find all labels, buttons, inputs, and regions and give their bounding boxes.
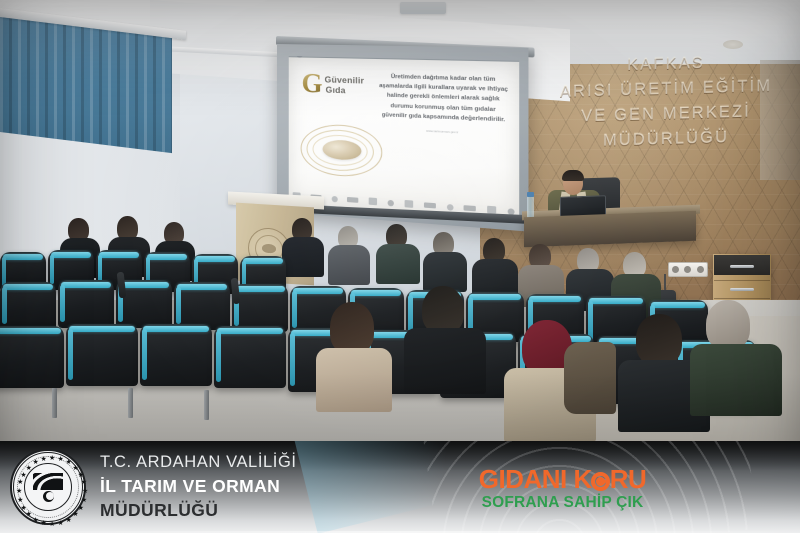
honeycomb-illustration bbox=[297, 119, 389, 181]
partner-logo bbox=[347, 197, 358, 203]
torso bbox=[376, 244, 420, 284]
auditorium-seat bbox=[232, 284, 288, 332]
wall-engraved-text: KAFKAS ARISI ÜRETİM EĞİTİM VE GEN MERKEZ… bbox=[536, 48, 796, 155]
cabinet-drawer-seam bbox=[714, 280, 770, 281]
partner-logo bbox=[446, 203, 453, 210]
campaign-subline: SOFRANA SAHİP ÇIK bbox=[455, 493, 670, 512]
screenshot-root: KAFKAS ARISI ÜRETİM EĞİTİM VE GEN MERKEZ… bbox=[0, 0, 800, 533]
org-line-3: MÜDÜRLÜĞÜ bbox=[100, 498, 297, 522]
footer-banner: ★★★★★★★★★★★★★★★★★★★★★★★★ T.C. ARDAHAN VA… bbox=[0, 441, 800, 533]
auditorium-seat bbox=[0, 282, 56, 330]
org-line-2: İL TARIM VE ORMAN bbox=[100, 474, 297, 498]
campaign-lockup: GIDANI K RU SOFRANA SAHİP ÇIK bbox=[455, 465, 670, 512]
org-line-1: T.C. ARDAHAN VALİLİĞİ bbox=[100, 451, 297, 474]
slide-header-right-text: Ardahan İl Tarım ve Orman Müdürlüğü Gıda… bbox=[462, 56, 514, 59]
presenter-hair bbox=[562, 170, 584, 181]
partner-logo bbox=[331, 195, 337, 202]
seal-inner-disc bbox=[24, 463, 72, 511]
torso bbox=[404, 328, 486, 394]
cabinet-handle bbox=[730, 288, 754, 291]
cabinet-drawer-seam bbox=[714, 298, 770, 299]
head bbox=[636, 314, 682, 366]
organisation-titles: T.C. ARDAHAN VALİLİĞİ İL TARIM VE ORMAN … bbox=[100, 451, 297, 522]
apple-o-icon bbox=[591, 469, 611, 489]
ceiling-light bbox=[723, 40, 743, 49]
head bbox=[422, 286, 464, 334]
slide-source-note: www.tarimorman.gov.tr bbox=[377, 126, 510, 136]
presentation-slide: T.C. TARIM VE ORMAN BAKANLIĞI Ardahan İl… bbox=[289, 56, 519, 220]
ceiling-vent bbox=[400, 2, 446, 14]
campaign-headline-part-b: RU bbox=[610, 465, 647, 493]
slide-left-column: G Güvenilir Gıda bbox=[289, 56, 378, 209]
auditorium-seat bbox=[174, 282, 230, 330]
socket-outlet bbox=[697, 266, 704, 273]
auditorium-seat bbox=[0, 326, 64, 388]
slide-right-column: Üretimden dağıtıma kadar olan tüm aşamal… bbox=[377, 58, 519, 220]
partner-logo bbox=[369, 197, 377, 205]
torso bbox=[316, 348, 392, 412]
head bbox=[330, 302, 374, 354]
seat-leg bbox=[52, 388, 57, 418]
partner-logo bbox=[404, 200, 413, 208]
slide-title-words: Güvenilir Gıda bbox=[323, 71, 365, 96]
partner-logo bbox=[424, 202, 436, 208]
socket-outlet bbox=[672, 266, 679, 273]
auditorium-seat bbox=[66, 324, 138, 386]
auditorium-seat bbox=[140, 324, 212, 386]
head bbox=[706, 300, 750, 350]
water-bottle-cap bbox=[527, 192, 534, 197]
shoulder-scarf bbox=[564, 342, 616, 414]
cabinet-handle bbox=[730, 265, 754, 268]
torso bbox=[328, 245, 370, 285]
partner-logo bbox=[464, 205, 476, 211]
ministry-seal: ★★★★★★★★★★★★★★★★★★★★★★★★ bbox=[8, 447, 88, 527]
socket-outlet bbox=[684, 266, 691, 273]
campaign-headline: GIDANI K RU bbox=[455, 465, 670, 493]
seat-leg bbox=[204, 390, 209, 420]
auditorium-seat bbox=[58, 280, 114, 328]
seal-bird-icon bbox=[33, 473, 63, 490]
slide-title-line2: Gıda bbox=[325, 84, 365, 96]
seal-crescent-icon bbox=[43, 491, 54, 502]
water-bottle bbox=[527, 196, 534, 218]
campaign-headline-part-a: GIDANI K bbox=[479, 465, 592, 493]
partner-logo bbox=[388, 199, 394, 206]
torso bbox=[282, 237, 324, 277]
seat-leg bbox=[128, 388, 133, 418]
slide-body-paragraph: Üretimden dağıtıma kadar olan tüm aşamal… bbox=[377, 73, 510, 126]
slide-title-block: G Güvenilir Gıda bbox=[302, 71, 365, 98]
auditorium-seat bbox=[214, 326, 286, 388]
slide-title-initial: G bbox=[302, 71, 323, 97]
torso bbox=[690, 344, 782, 416]
